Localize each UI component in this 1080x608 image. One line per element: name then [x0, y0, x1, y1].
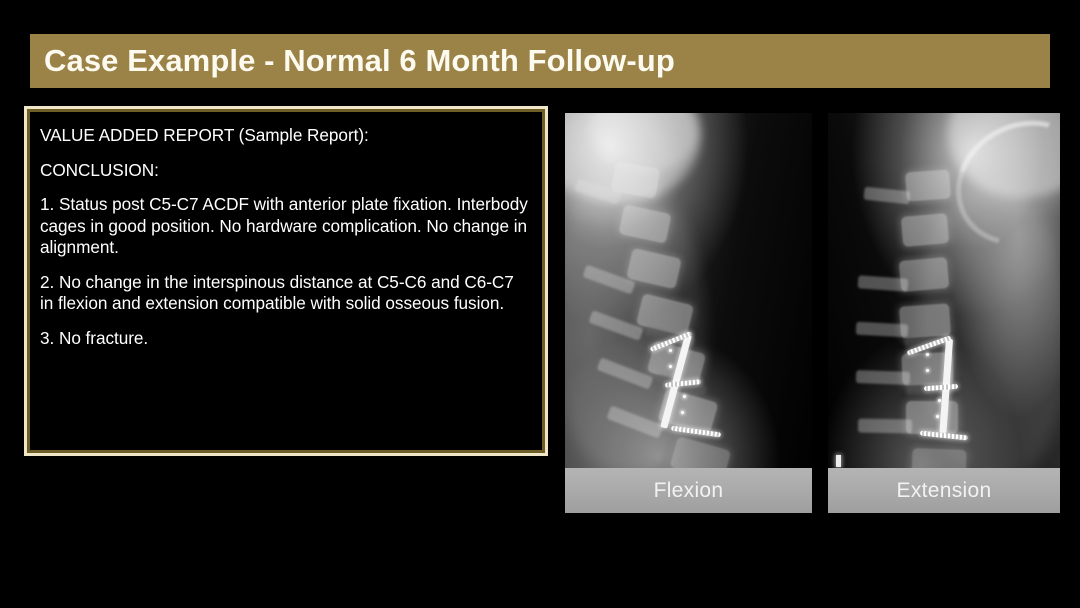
cage-marker-c5c6-a [926, 353, 929, 356]
spinous-process-c7 [858, 419, 912, 434]
skin-marker-clip [836, 455, 841, 467]
cage-marker-c6c7-b [681, 411, 684, 414]
cage-marker-c5c6-b [669, 365, 672, 368]
vertebra-c2 [905, 170, 951, 202]
cage-marker-c6c7-b [936, 415, 939, 418]
caption-extension: Extension [828, 468, 1060, 513]
report-conclusion-label: CONCLUSION: [40, 160, 529, 182]
xray-panel-flexion: Flexion [565, 113, 812, 513]
cage-marker-c5c6-b [926, 369, 929, 372]
xray-panel-extension: Extension [828, 113, 1060, 513]
report-item-1: 1. Status post C5-C7 ACDF with anterior … [40, 194, 529, 259]
slide: Case Example - Normal 6 Month Follow-up … [0, 0, 1080, 608]
page-title: Case Example - Normal 6 Month Follow-up [44, 43, 675, 79]
report-text-container: VALUE ADDED REPORT (Sample Report): CONC… [40, 125, 529, 443]
cage-marker-c6c7-a [683, 395, 686, 398]
extension-radiograph-image [828, 113, 1060, 513]
report-item-2: 2. No change in the interspinous distanc… [40, 272, 529, 315]
cage-marker-c5c6-a [669, 349, 672, 352]
spinous-process-c6 [856, 370, 910, 385]
vertebra-c7 [906, 401, 958, 434]
cage-marker-c6c7-a [938, 399, 941, 402]
vertebra-c3 [901, 213, 949, 247]
report-item-3: 3. No fracture. [40, 328, 529, 350]
caption-flexion: Flexion [565, 468, 812, 513]
flexion-radiograph-image [565, 113, 812, 513]
value-added-report-box: VALUE ADDED REPORT (Sample Report): CONC… [24, 106, 548, 456]
spinous-process-c5 [856, 322, 909, 338]
title-banner: Case Example - Normal 6 Month Follow-up [30, 34, 1050, 88]
report-heading: VALUE ADDED REPORT (Sample Report): [40, 125, 529, 147]
